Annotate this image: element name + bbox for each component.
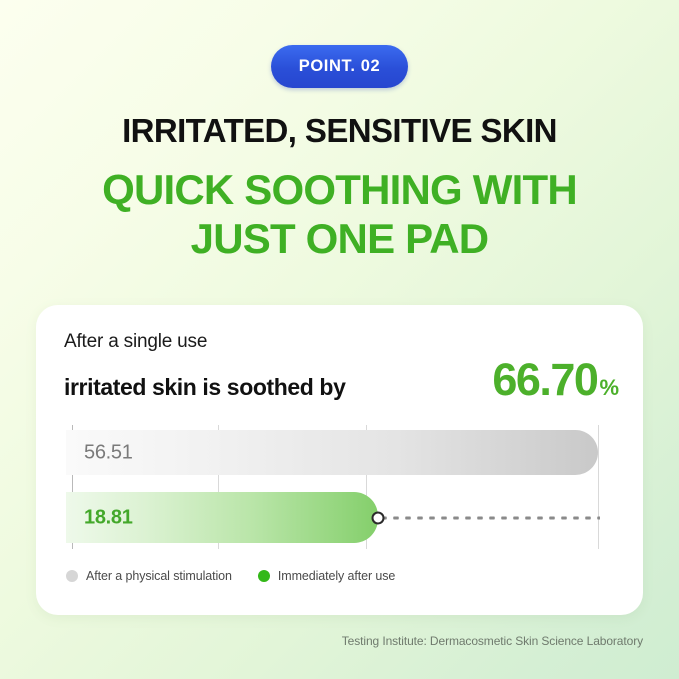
headline-secondary: QUICK SOOTHING WITH JUST ONE PAD: [0, 165, 679, 263]
headline-primary: IRRITATED, SENSITIVE SKIN: [0, 112, 679, 150]
bar-row-immediately-after-use: 18.81: [66, 492, 624, 543]
bar-value-immediately-after-use: 18.81: [84, 506, 133, 529]
headline-secondary-line-2: JUST ONE PAD: [0, 214, 679, 263]
stat-subtitle: After a single use: [64, 331, 619, 353]
chart-legend: After a physical stimulation Immediately…: [66, 569, 395, 583]
promo-page: POINT. 02 IRRITATED, SENSITIVE SKIN QUIC…: [0, 0, 679, 679]
stat-block: After a single use irritated skin is soo…: [64, 331, 619, 402]
legend-label-immediately-after-use: Immediately after use: [278, 569, 395, 583]
bar-endpoint-marker-icon: [372, 511, 385, 524]
legend-item-immediately-after-use: Immediately after use: [258, 569, 395, 583]
result-card: After a single use irritated skin is soo…: [36, 305, 643, 615]
bar-value-physical-stimulation: 56.51: [84, 441, 133, 464]
legend-swatch-green-icon: [258, 570, 270, 582]
stat-label: irritated skin is soothed by: [64, 374, 345, 401]
legend-swatch-gray-icon: [66, 570, 78, 582]
bar-physical-stimulation: [66, 430, 598, 475]
legend-item-physical-stimulation: After a physical stimulation: [66, 569, 232, 583]
bar-dotted-extension: [378, 516, 600, 519]
stat-value: 66.70: [492, 357, 597, 402]
headline-secondary-line-1: QUICK SOOTHING WITH: [0, 165, 679, 214]
legend-label-physical-stimulation: After a physical stimulation: [86, 569, 232, 583]
stat-unit: %: [599, 375, 619, 401]
bar-row-physical-stimulation: 56.51: [66, 430, 624, 475]
badge-row: POINT. 02: [0, 45, 679, 88]
bar-chart: 56.51 18.81: [66, 425, 624, 549]
stat-value-group: 66.70 %: [492, 357, 619, 402]
point-badge: POINT. 02: [271, 45, 409, 88]
stat-main-row: irritated skin is soothed by 66.70 %: [64, 357, 619, 402]
testing-institute-note: Testing Institute: Dermacosmetic Skin Sc…: [342, 634, 643, 648]
